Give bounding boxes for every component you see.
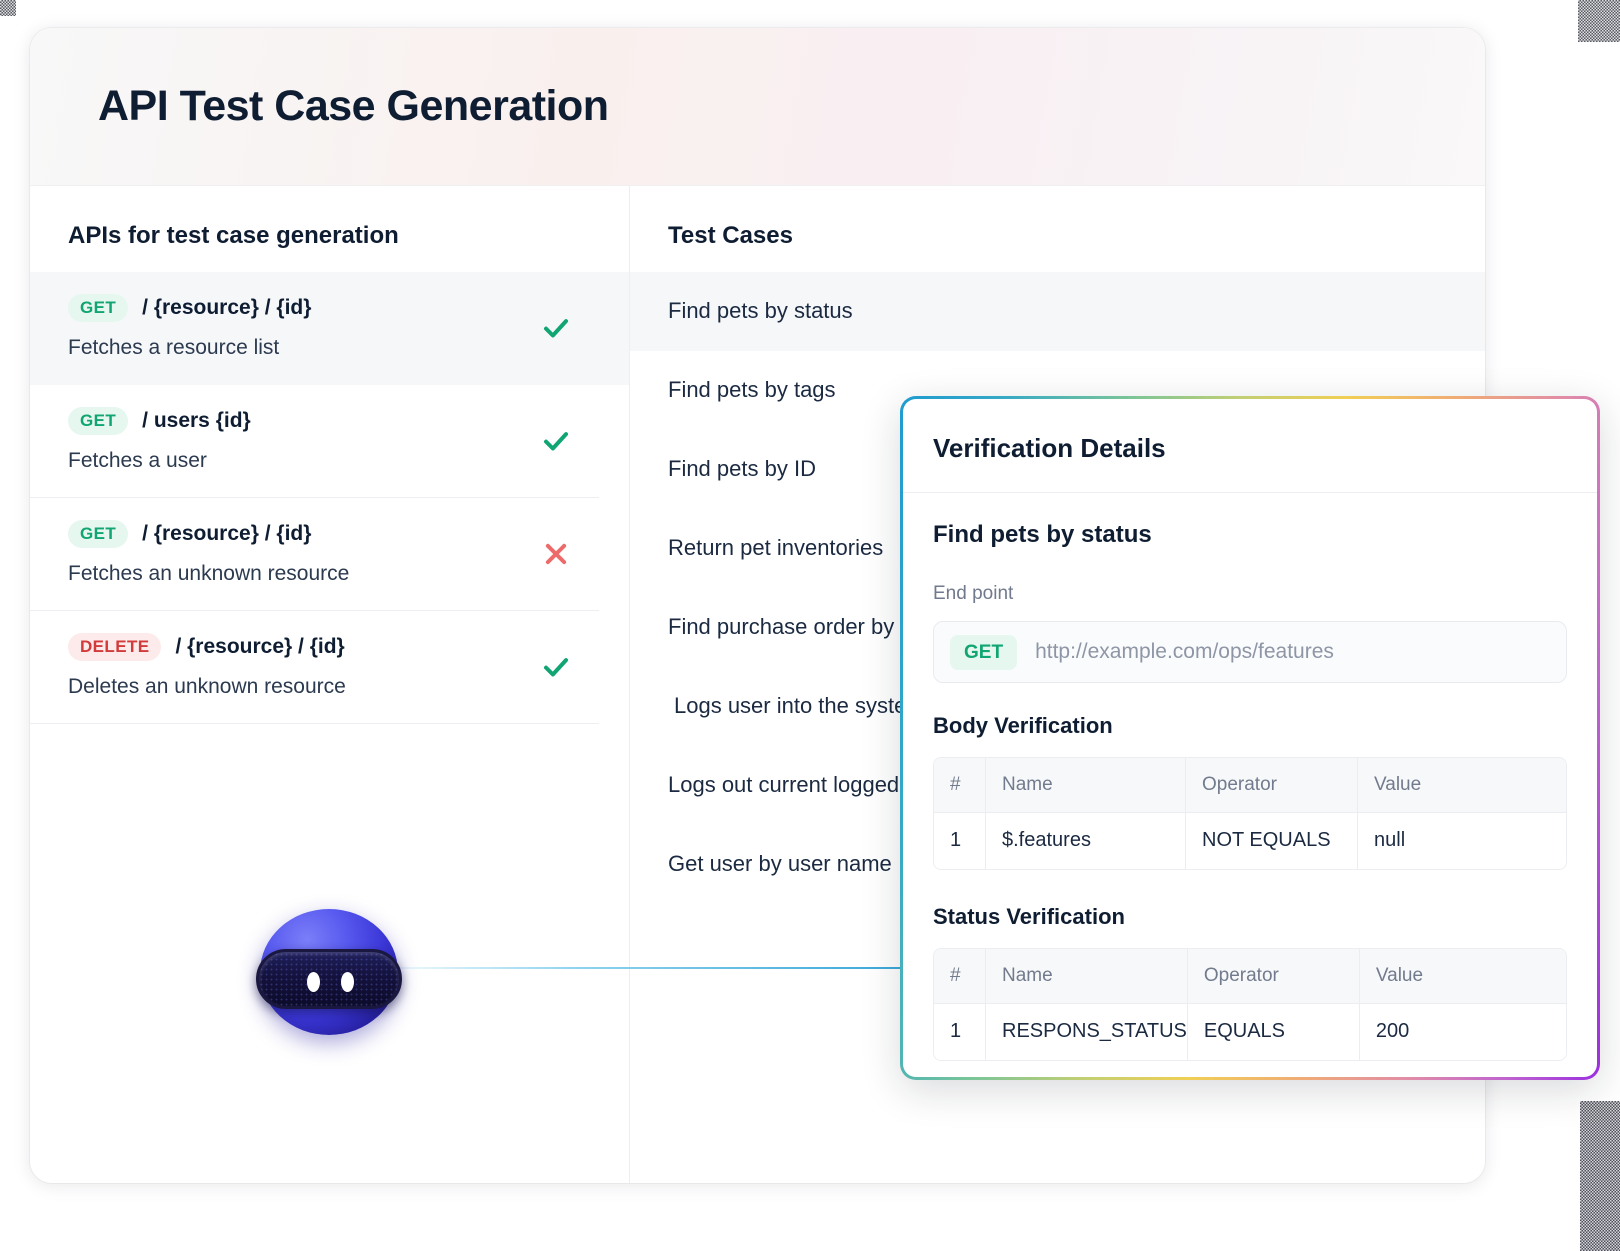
cell-operator: NOT EQUALS [1186,813,1358,869]
status-verification-title: Status Verification [933,904,1567,930]
table-header-row: # Name Operator Value [934,949,1566,1004]
cell-num: 1 [934,1004,986,1060]
noise-corner-top-right [1578,0,1620,42]
api-list-item[interactable]: GET / {resource} / {id} Fetches an unkno… [30,498,599,611]
cell-value: null [1358,813,1566,869]
column-header-value: Value [1358,758,1566,813]
table-row: 1 $.features NOT EQUALS null [934,813,1566,869]
api-item-header: DELETE / {resource} / {id} [68,633,539,661]
api-item-header: GET / {resource} / {id} [68,520,539,548]
method-badge: GET [68,520,128,548]
method-badge: GET [68,294,128,322]
assistant-connector-line [396,967,906,969]
noise-corner-top-left [0,0,16,16]
column-header-name: Name [986,949,1188,1004]
api-item-header: GET / {resource} / {id} [68,294,539,322]
test-cases-heading: Test Cases [630,186,1485,272]
robot-eye-left [307,972,320,992]
table-header-row: # Name Operator Value [934,758,1566,813]
column-header-name: Name [986,758,1186,813]
api-description: Fetches an unknown resource [68,562,539,586]
cell-name: $.features [986,813,1186,869]
page-title: API Test Case Generation [98,82,609,131]
endpoint-field[interactable]: GET http://example.com/ops/features [933,621,1567,683]
api-path: / {resource} / {id} [142,296,311,320]
noise-corner-bottom-right [1580,1101,1620,1251]
column-header-operator: Operator [1188,949,1360,1004]
column-header-num: # [934,949,986,1004]
column-header-value: Value [1360,949,1566,1004]
api-list-item[interactable]: DELETE / {resource} / {id} Deletes an un… [30,611,599,724]
verification-case-name: Find pets by status [933,521,1567,549]
endpoint-label: End point [933,583,1567,605]
api-description: Fetches a user [68,449,539,473]
api-list-item[interactable]: GET / users {id} Fetches a user [30,385,599,498]
api-path: / {resource} / {id} [175,635,344,659]
robot-visor [256,949,402,1009]
column-header-operator: Operator [1186,758,1358,813]
verification-panel-body: Find pets by status End point GET http:/… [903,493,1597,1061]
cell-name: RESPONS_STATUS [986,1004,1188,1060]
api-list-item[interactable]: GET / {resource} / {id} Fetches a resour… [30,272,629,385]
body-verification-table: # Name Operator Value 1 $.features NOT E… [933,757,1567,870]
body-verification-title: Body Verification [933,713,1567,739]
method-badge: DELETE [68,633,161,661]
api-path: / users {id} [142,409,251,433]
cell-num: 1 [934,813,986,869]
status-verification-table: # Name Operator Value 1 RESPONS_STATUS E… [933,948,1567,1061]
method-badge: GET [68,407,128,435]
verification-panel-header: Verification Details [903,399,1597,493]
cell-operator: EQUALS [1188,1004,1360,1060]
status-fail-icon [541,539,571,569]
api-item-header: GET / users {id} [68,407,539,435]
api-description: Deletes an unknown resource [68,675,539,699]
robot-eye-right [341,972,354,992]
status-pass-icon [541,652,571,682]
status-pass-icon [541,426,571,456]
test-case-item[interactable]: Find pets by status [630,272,1485,351]
endpoint-method-badge: GET [950,635,1017,670]
apis-column-heading: APIs for test case generation [30,186,629,272]
verification-panel-title: Verification Details [933,433,1597,464]
robot-avatar-icon[interactable] [256,903,402,1041]
api-path: / {resource} / {id} [142,522,311,546]
app-header: API Test Case Generation [30,28,1485,186]
column-header-num: # [934,758,986,813]
status-pass-icon [541,313,571,343]
table-row: 1 RESPONS_STATUS EQUALS 200 [934,1004,1566,1060]
verification-details-panel: Verification Details Find pets by status… [900,396,1600,1080]
verification-panel-inner: Verification Details Find pets by status… [903,399,1597,1077]
cell-value: 200 [1360,1004,1566,1060]
api-description: Fetches a resource list [68,336,539,360]
endpoint-url-text: http://example.com/ops/features [1035,640,1334,664]
